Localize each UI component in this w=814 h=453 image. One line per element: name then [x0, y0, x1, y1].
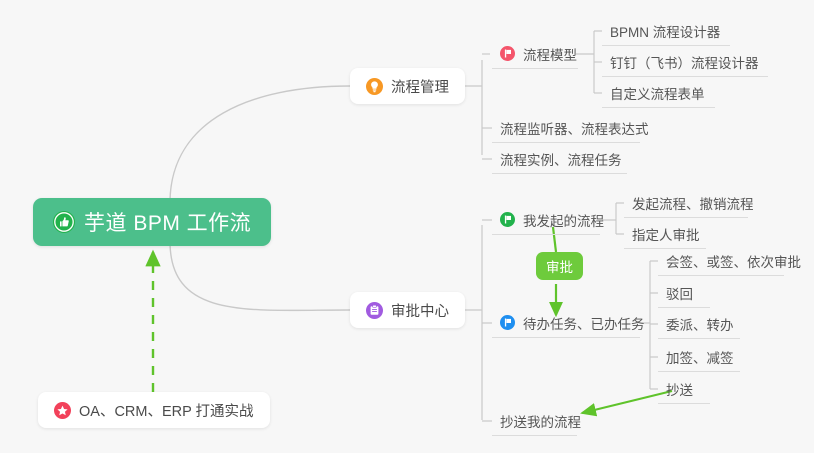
node-label-cc-to-me-process: 抄送我的流程 [500, 411, 581, 431]
node-reject[interactable]: 驳回 [658, 278, 710, 308]
mindmap-canvas: 芋道 BPM 工作流 流程管理 流程模型 BPMN 流程设计器 钉钉（飞书）流程 [0, 0, 814, 453]
node-label-process-model: 流程模型 [523, 44, 577, 64]
branch-label-approval-center: 审批中心 [391, 300, 449, 321]
integration-note-label: OA、CRM、ERP 打通实战 [79, 400, 254, 421]
node-assignee-approval[interactable]: 指定人审批 [624, 219, 706, 249]
clipboard-icon [366, 302, 383, 319]
node-carbon-copy[interactable]: 抄送 [658, 374, 710, 404]
node-label-delegate-transfer: 委派、转办 [666, 314, 734, 334]
node-process-listener-expression[interactable]: 流程监听器、流程表达式 [492, 113, 640, 143]
node-cc-to-me-process[interactable]: 抄送我的流程 [492, 406, 577, 436]
node-label-reject: 驳回 [666, 283, 693, 303]
node-label-countersign: 会签、或签、依次审批 [666, 251, 801, 271]
node-label-assignee-approval: 指定人审批 [632, 224, 700, 244]
node-custom-process-form[interactable]: 自定义流程表单 [602, 78, 715, 108]
integration-note[interactable]: OA、CRM、ERP 打通实战 [38, 392, 270, 428]
node-label-process-instance-task: 流程实例、流程任务 [500, 149, 622, 169]
node-label-dingtalk-feishu-designer: 钉钉（飞书）流程设计器 [610, 52, 759, 72]
root-node[interactable]: 芋道 BPM 工作流 [33, 198, 271, 246]
branch-node-process-management[interactable]: 流程管理 [350, 68, 465, 104]
node-my-initiated-process[interactable]: 我发起的流程 [492, 205, 600, 235]
star-icon [54, 402, 71, 419]
node-label-start-cancel-process: 发起流程、撤销流程 [632, 193, 754, 213]
node-countersign[interactable]: 会签、或签、依次审批 [658, 246, 784, 276]
branch-label-process-management: 流程管理 [391, 76, 449, 97]
node-label-bpmn-designer: BPMN 流程设计器 [610, 21, 720, 41]
flag-icon [500, 46, 515, 61]
approval-badge-label: 审批 [546, 256, 573, 276]
thumbs-up-icon [53, 211, 75, 233]
node-delegate-transfer[interactable]: 委派、转办 [658, 309, 740, 339]
branch-node-approval-center[interactable]: 审批中心 [350, 292, 465, 328]
node-add-remove-sign[interactable]: 加签、减签 [658, 342, 740, 372]
node-label-process-listener-expression: 流程监听器、流程表达式 [500, 118, 649, 138]
flag-icon [500, 212, 515, 227]
root-label: 芋道 BPM 工作流 [84, 207, 251, 237]
edge-root-to-process-management [170, 86, 350, 200]
node-label-custom-process-form: 自定义流程表单 [610, 83, 705, 103]
node-bpmn-designer[interactable]: BPMN 流程设计器 [602, 16, 730, 46]
node-label-my-initiated-process: 我发起的流程 [523, 210, 604, 230]
node-process-model[interactable]: 流程模型 [492, 39, 578, 69]
approval-badge[interactable]: 审批 [536, 252, 583, 280]
node-label-carbon-copy: 抄送 [666, 379, 693, 399]
lightbulb-icon [366, 78, 383, 95]
flag-icon [500, 315, 515, 330]
node-process-instance-task[interactable]: 流程实例、流程任务 [492, 144, 627, 174]
node-todo-done-task[interactable]: 待办任务、已办任务 [492, 308, 640, 338]
node-dingtalk-feishu-designer[interactable]: 钉钉（飞书）流程设计器 [602, 47, 768, 77]
node-label-add-remove-sign: 加签、减签 [666, 347, 734, 367]
node-label-todo-done-task: 待办任务、已办任务 [523, 313, 645, 333]
node-start-cancel-process[interactable]: 发起流程、撤销流程 [624, 188, 748, 218]
edge-root-to-approval-center [170, 244, 350, 310]
